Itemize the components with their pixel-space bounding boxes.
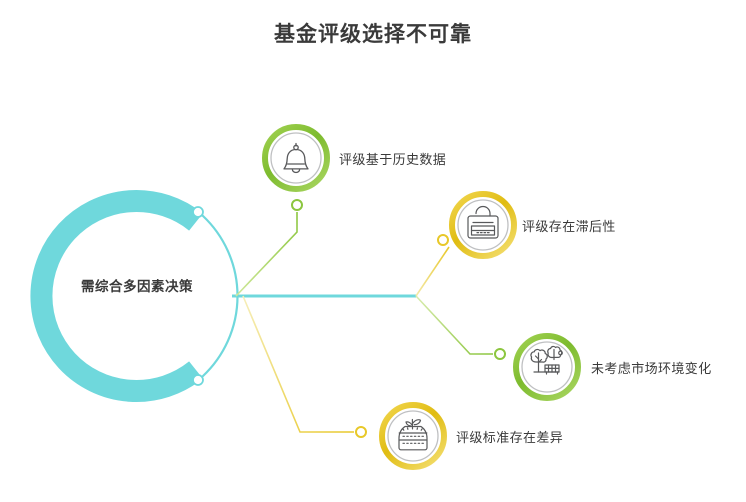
node-ring-4[interactable] (382, 405, 444, 467)
branch-line-1 (236, 200, 302, 296)
node-ring-3[interactable] (516, 336, 578, 398)
node-ring-1[interactable] (265, 127, 327, 189)
infographic-canvas: 基金评级选择不可靠 (0, 0, 746, 502)
branch-line-3 (416, 296, 505, 359)
node-label-1: 评级基于历史数据 (339, 149, 446, 168)
node-ring-2[interactable] (452, 194, 514, 256)
center-label: 需综合多因素决策 (42, 275, 232, 295)
node-label-2: 评级存在滞后性 (522, 216, 616, 235)
bell-icon (284, 144, 308, 173)
park-trees-icon (531, 346, 562, 374)
sack-bag-icon (399, 420, 427, 450)
connector-graphics (0, 0, 746, 502)
branch-line-2 (416, 235, 449, 296)
node-label-4: 评级标准存在差异 (456, 427, 563, 446)
briefcase-icon (468, 207, 498, 238)
center-outer-arc (193, 207, 238, 385)
branch-line-4 (243, 296, 366, 437)
node-label-3: 未考虑市场环境变化 (591, 358, 712, 377)
center-circle-arc (41, 201, 196, 391)
page-title: 基金评级选择不可靠 (0, 18, 746, 48)
